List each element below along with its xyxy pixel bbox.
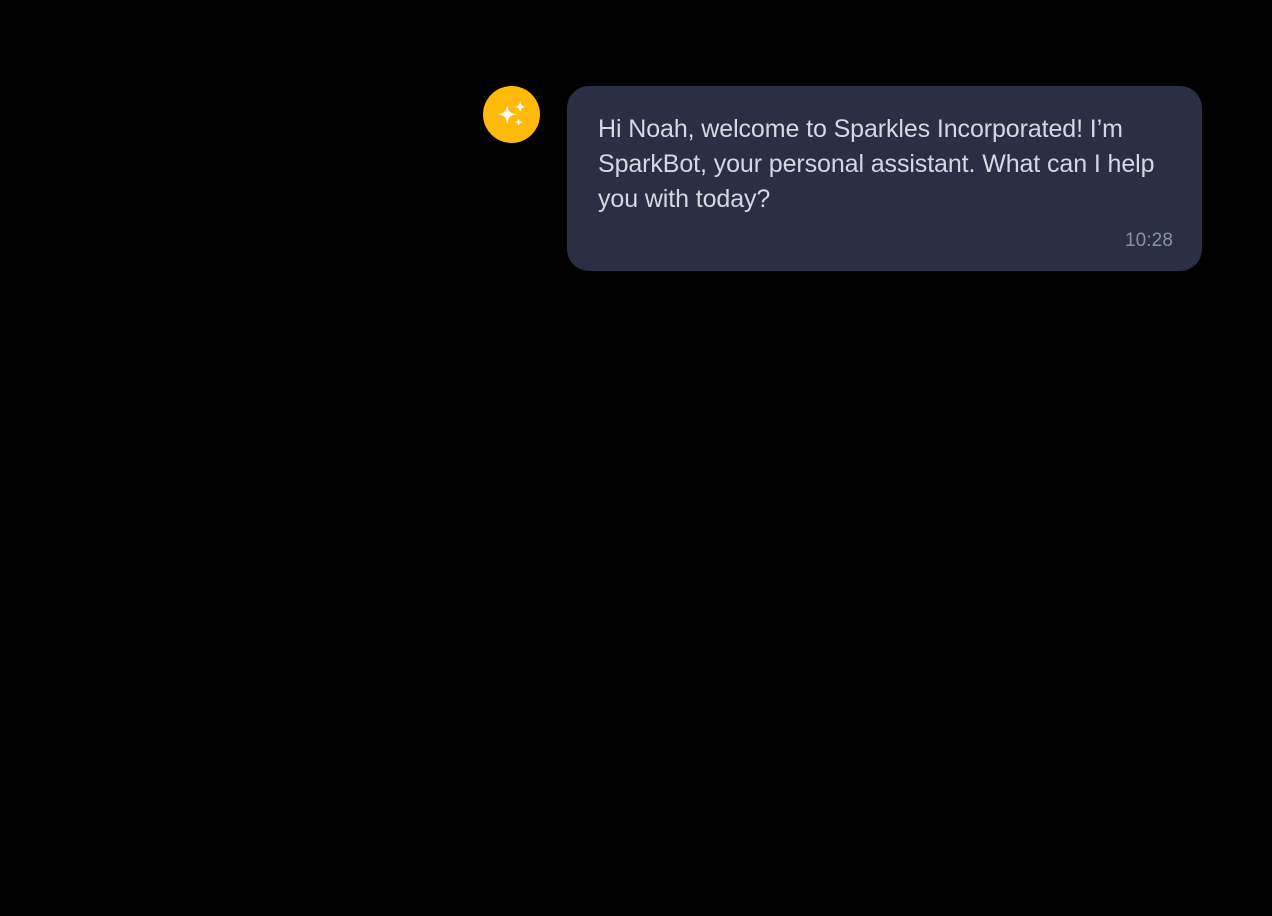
message-bubble: Hi Noah, welcome to Sparkles Incorporate…: [567, 86, 1202, 271]
sparkles-icon: [494, 97, 530, 133]
message-row: Hi Noah, welcome to Sparkles Incorporate…: [483, 86, 1202, 271]
message-text: Hi Noah, welcome to Sparkles Incorporate…: [598, 112, 1173, 217]
message-timestamp: 10:28: [598, 229, 1173, 253]
avatar: [483, 86, 540, 143]
chat-surface: Hi Noah, welcome to Sparkles Incorporate…: [0, 0, 1272, 916]
